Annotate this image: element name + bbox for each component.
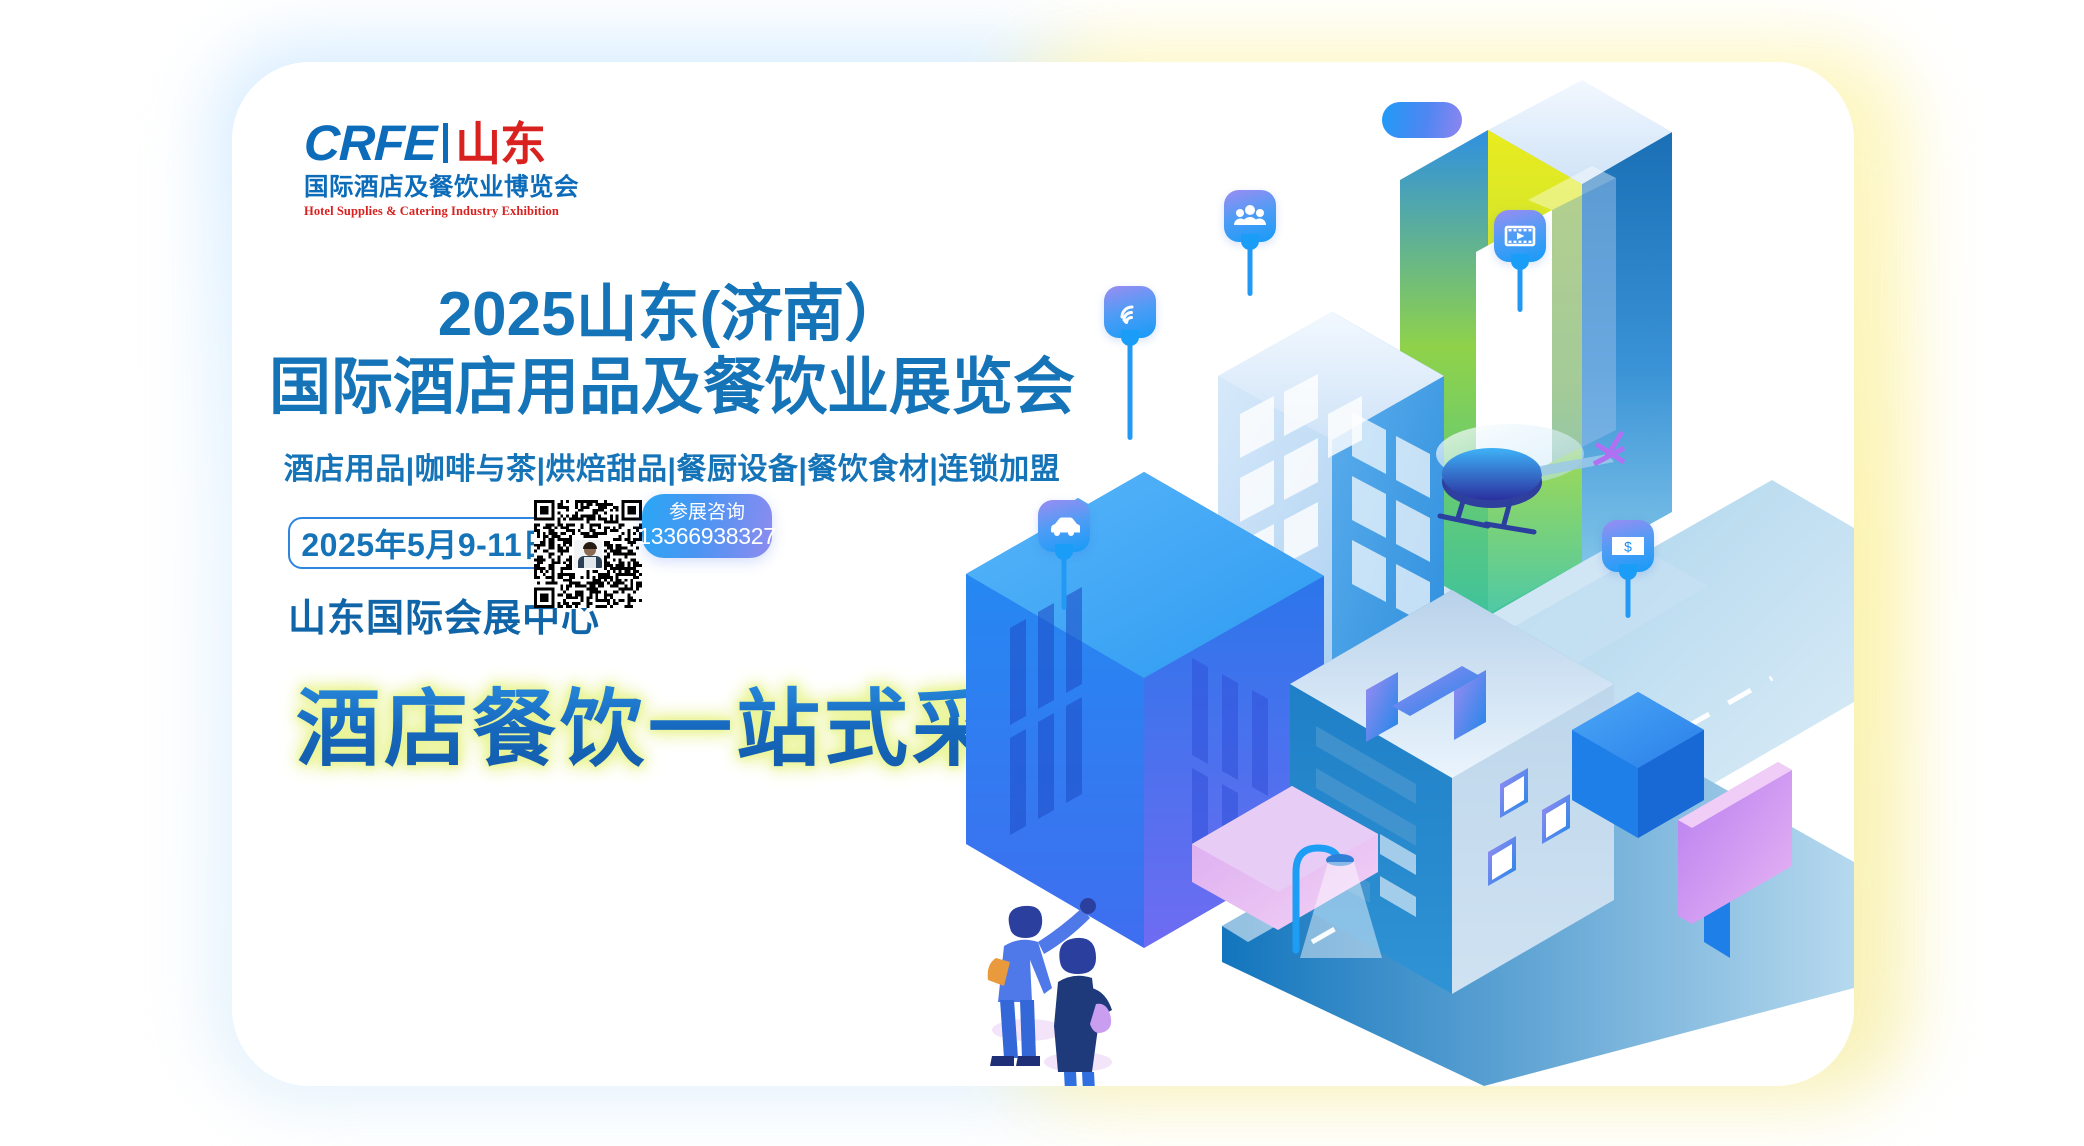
- svg-text:$: $: [1624, 539, 1632, 555]
- car-icon: [1038, 500, 1090, 552]
- logo-subtitle-en: Hotel Supplies & Catering Industry Exhib…: [304, 204, 604, 219]
- money-pin[interactable]: $: [1602, 520, 1654, 572]
- people-pin[interactable]: [1224, 190, 1276, 242]
- video-icon: [1494, 210, 1546, 262]
- people-pin-stem: [1248, 248, 1253, 296]
- wifi-icon: [1104, 286, 1156, 338]
- people-icon: [1224, 190, 1276, 242]
- logo-subtitle-cn: 国际酒店及餐饮业博览会: [304, 168, 604, 203]
- event-date-badge: 2025年5月9-11日: [288, 517, 568, 569]
- car-pin[interactable]: [1038, 500, 1090, 552]
- contact-phone: 13366938327: [638, 524, 775, 549]
- logo-top-row: CRFE 山东: [304, 114, 604, 166]
- city-svg: [892, 62, 1854, 1086]
- logo-divider: [443, 123, 448, 163]
- logo-region: 山东: [455, 122, 545, 166]
- isometric-city-illustration: $: [892, 62, 1854, 1086]
- video-pin-stem: [1518, 268, 1523, 312]
- wechat-qr-code[interactable]: [534, 500, 642, 608]
- people-figures: [988, 898, 1112, 1086]
- video-pin[interactable]: [1494, 210, 1546, 262]
- brand-logo[interactable]: CRFE 山东 国际酒店及餐饮业博览会 Hotel Supplies & Cat…: [304, 114, 604, 219]
- contact-label: 参展咨询: [669, 503, 745, 524]
- wifi-pin-stem: [1128, 344, 1133, 440]
- car-pin-stem: [1062, 558, 1067, 610]
- money-icon: $: [1602, 520, 1654, 572]
- money-pin-stem: [1626, 578, 1631, 618]
- promo-card: CRFE 山东 国际酒店及餐饮业博览会 Hotel Supplies & Cat…: [232, 62, 1854, 1086]
- logo-wordmark: CRFE: [303, 120, 437, 166]
- contact-bubble[interactable]: 参展咨询 13366938327: [642, 494, 772, 558]
- wifi-pin[interactable]: [1104, 286, 1156, 338]
- qr-center-avatar: [572, 538, 604, 570]
